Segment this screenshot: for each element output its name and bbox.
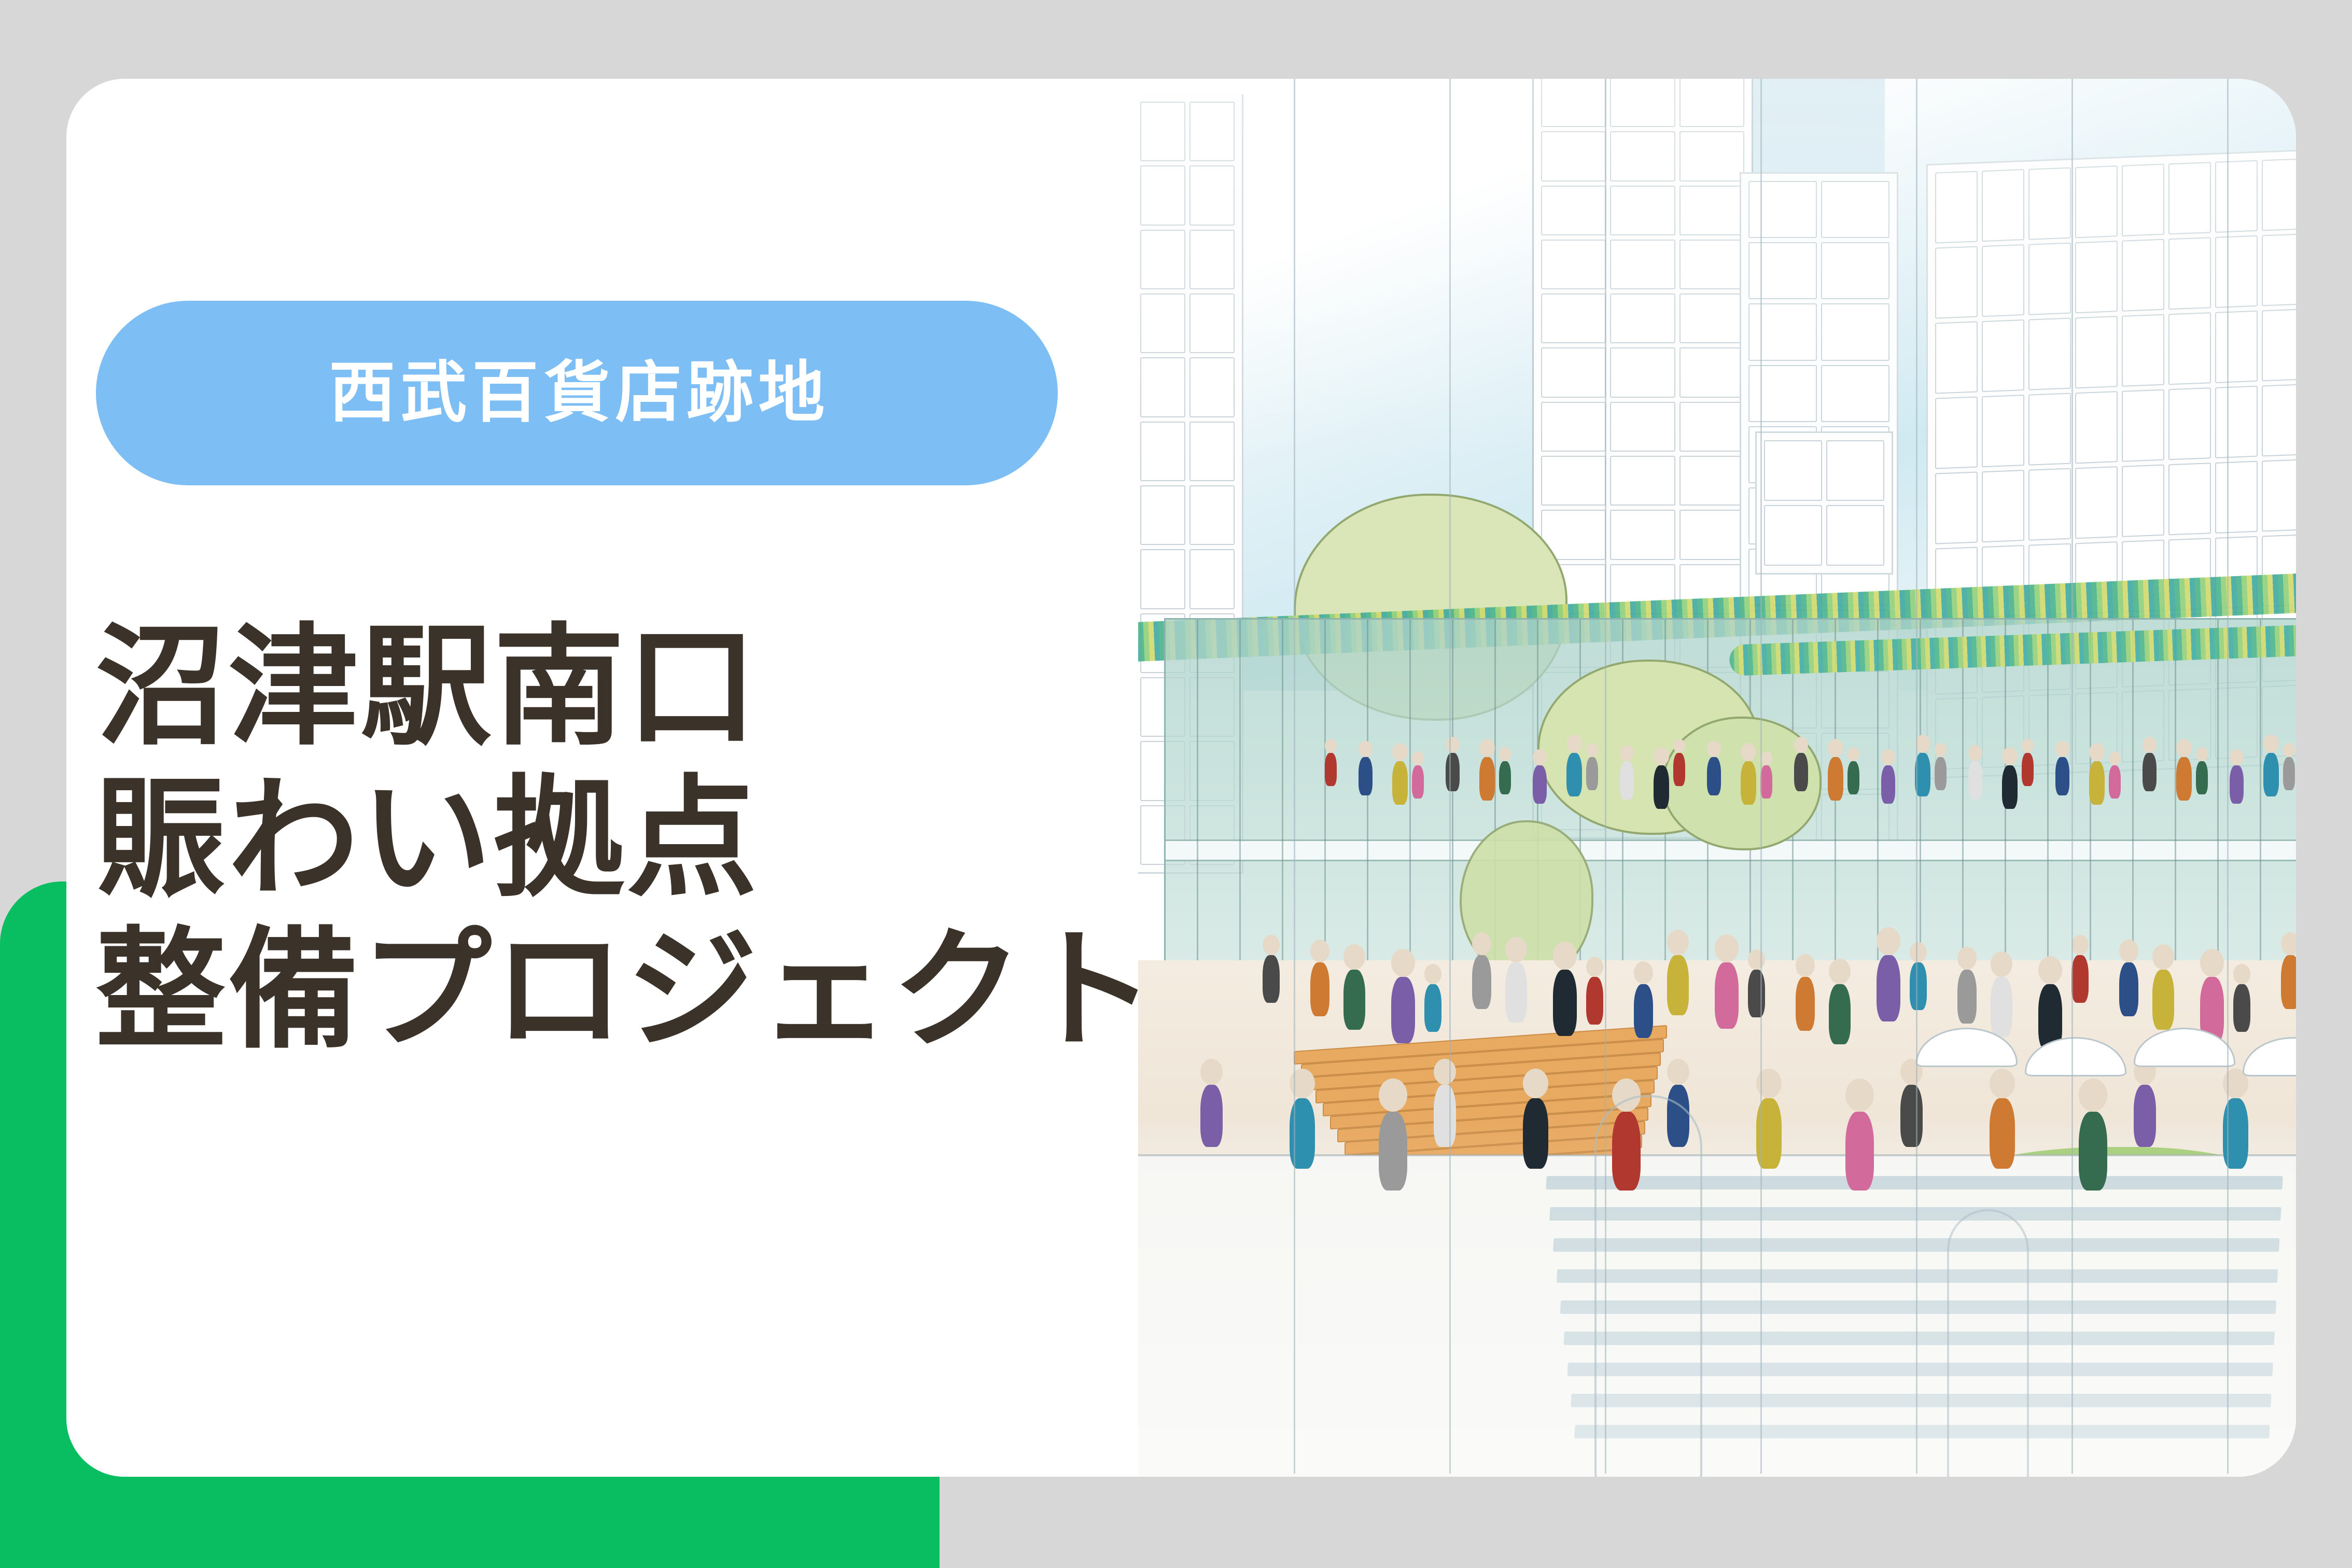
- building-window: [1541, 456, 1606, 506]
- person-figure-plaza: [1379, 1112, 1407, 1191]
- person-head: [2233, 964, 2250, 984]
- building-window: [2168, 312, 2211, 385]
- person-figure-upper: [2176, 757, 2192, 801]
- sketch-guide-line: [1449, 79, 1451, 1474]
- sketch-guide-line: [2227, 79, 2229, 1474]
- person-figure-upper: [1968, 761, 1982, 800]
- person-head: [1829, 959, 1851, 984]
- building-window: [1935, 171, 1978, 244]
- person-figure-upper: [2263, 753, 2279, 796]
- building-window: [1982, 319, 2024, 392]
- person-head: [1343, 944, 1365, 970]
- person-figure-upper: [2002, 765, 2018, 809]
- content-card: 西武百貨店跡地 沼津駅南口 賑わい拠点 整備プロジェクト: [66, 79, 2296, 1477]
- sketch-guide-line: [1760, 79, 1762, 1474]
- person-head: [1673, 739, 1685, 753]
- building-window: [1764, 440, 1822, 501]
- building-window: [1679, 510, 1744, 559]
- sketch-guide-line: [1916, 79, 1917, 1474]
- person-figure-upper: [2283, 757, 2295, 790]
- person-figure-lower: [2071, 955, 2089, 1003]
- person-figure-upper: [1479, 757, 1495, 801]
- pavilion-mullion: [1197, 620, 1198, 1014]
- person-head: [2230, 749, 2244, 765]
- person-head: [1263, 935, 1280, 955]
- person-figure-upper: [1499, 761, 1511, 794]
- building-window: [1679, 186, 1744, 235]
- person-head: [2002, 747, 2018, 765]
- person-head: [1991, 951, 2012, 977]
- person-head: [2089, 743, 2105, 761]
- building-window: [1821, 181, 1889, 238]
- person-figure-upper: [2022, 753, 2034, 786]
- person-figure-upper: [1760, 765, 1772, 799]
- building-window: [1610, 131, 1675, 181]
- person-head: [1424, 964, 1441, 984]
- person-head: [2109, 751, 2121, 765]
- person-figure-upper: [1673, 753, 1685, 786]
- person-figure-lower: [1310, 962, 1329, 1016]
- person-head: [1715, 934, 1739, 962]
- person-figure-upper: [2109, 765, 2121, 799]
- building-window: [1610, 510, 1675, 559]
- building-window: [1982, 169, 2024, 242]
- person-head: [1392, 743, 1408, 761]
- building-window: [1140, 549, 1185, 609]
- building-window: [1679, 402, 1744, 452]
- person-figure-lower: [1391, 977, 1415, 1043]
- person-figure-lower: [1829, 984, 1851, 1044]
- building-window: [2075, 165, 2118, 238]
- person-head: [1359, 741, 1373, 757]
- building-window: [2215, 235, 2258, 308]
- building-window: [2122, 314, 2164, 387]
- person-head: [1910, 942, 1927, 962]
- person-head: [2152, 944, 2174, 970]
- building-window: [2215, 160, 2258, 233]
- plaza-illustration: [1138, 79, 2296, 1477]
- pavilion-mullion: [2090, 620, 2091, 1014]
- person-figure-upper: [2230, 765, 2244, 804]
- person-figure-upper: [1654, 765, 1669, 809]
- person-figure-lower: [2152, 970, 2174, 1030]
- person-figure-lower: [1263, 955, 1280, 1003]
- building-window: [1541, 186, 1606, 235]
- person-figure-upper: [1935, 757, 1947, 790]
- building-window: [2028, 243, 2071, 315]
- pavilion-mullion: [1835, 620, 1836, 1014]
- building-window: [1679, 79, 1744, 127]
- building-window: [2168, 237, 2211, 310]
- person-figure-upper: [1359, 757, 1373, 795]
- person-figure-upper: [1847, 761, 1859, 794]
- person-head: [2143, 737, 2157, 753]
- building-window: [2122, 164, 2164, 236]
- person-head: [2196, 747, 2208, 761]
- person-head: [1748, 949, 1765, 970]
- building-window: [1610, 240, 1675, 289]
- building-window: [1610, 402, 1675, 452]
- person-figure-lower: [2233, 984, 2250, 1032]
- building-window: [1610, 456, 1675, 506]
- building-window: [1610, 293, 1675, 343]
- person-head: [1968, 745, 1982, 761]
- person-figure-upper: [1794, 753, 1808, 791]
- person-head: [1412, 751, 1424, 765]
- building-window: [1189, 165, 1235, 225]
- building-window: [1541, 79, 1606, 127]
- building-window: [1679, 347, 1744, 397]
- person-head: [1325, 739, 1337, 753]
- building-window: [2075, 241, 2118, 313]
- building-window: [1140, 422, 1185, 481]
- building-window: [1140, 102, 1185, 161]
- building-window: [1982, 395, 2024, 467]
- person-figure-lower: [1343, 970, 1365, 1030]
- building-window: [1189, 293, 1235, 353]
- building-window: [2122, 389, 2164, 462]
- building-window: [1541, 293, 1606, 343]
- person-figure-upper: [1533, 765, 1547, 804]
- building-window: [2215, 311, 2258, 383]
- sketch-guide-line: [1294, 79, 1295, 1474]
- person-figure-lower: [1424, 984, 1441, 1032]
- person-figure-lower: [1748, 970, 1765, 1017]
- building-window: [2215, 461, 2258, 534]
- building-window: [2075, 391, 2118, 464]
- pavilion-mullion: [1239, 620, 1241, 1014]
- building-window: [1821, 365, 1889, 422]
- person-figure-lower: [1553, 970, 1577, 1036]
- building-window: [1610, 347, 1675, 397]
- person-head: [1479, 739, 1495, 757]
- building-window: [1748, 242, 1817, 299]
- person-figure-upper: [2055, 757, 2069, 795]
- building-window: [1679, 456, 1744, 506]
- person-figure-upper: [1741, 761, 1756, 805]
- person-figure-upper: [1446, 753, 1460, 791]
- person-head: [2283, 743, 2295, 757]
- person-figure-lower: [1472, 955, 1491, 1009]
- person-figure-upper: [1325, 753, 1337, 786]
- person-head: [1586, 957, 1603, 977]
- person-head: [2055, 741, 2069, 757]
- pavilion-mullion: [2175, 620, 2176, 1014]
- person-figure-upper: [1707, 757, 1721, 795]
- person-head: [1379, 1079, 1407, 1112]
- person-figure-upper: [2143, 753, 2157, 791]
- building-window: [1821, 242, 1889, 299]
- building-window: [1140, 230, 1185, 289]
- person-head: [1667, 1059, 1689, 1085]
- person-head: [1620, 745, 1634, 761]
- building-box: [1755, 431, 1893, 575]
- building-window: [1140, 293, 1185, 353]
- building-window: [2028, 468, 2071, 541]
- person-figure-lower: [1796, 977, 1815, 1031]
- person-head: [1990, 1069, 2015, 1098]
- person-head: [1760, 751, 1772, 765]
- person-figure-lower: [2119, 962, 2138, 1016]
- building-window: [2028, 167, 2071, 240]
- building-window: [1610, 79, 1675, 127]
- building-window: [1826, 505, 1884, 566]
- pavilion-mullion: [1367, 620, 1368, 1014]
- person-head: [2038, 956, 2062, 984]
- person-head: [1391, 949, 1415, 977]
- person-head: [1935, 743, 1947, 757]
- person-figure-lower: [1957, 970, 1977, 1024]
- person-figure-upper: [1586, 757, 1598, 790]
- poster-stage: 西武百貨店跡地 沼津駅南口 賑わい拠点 整備プロジェクト: [0, 0, 2352, 1568]
- person-head: [2176, 739, 2192, 757]
- person-figure-lower: [1991, 977, 2012, 1037]
- person-figure-plaza: [1900, 1085, 1923, 1147]
- building-window: [2028, 318, 2071, 390]
- person-head: [1499, 747, 1511, 761]
- building-window: [1541, 347, 1606, 397]
- building-window: [1189, 549, 1235, 609]
- person-head: [2022, 739, 2034, 753]
- person-figure-lower: [1715, 962, 1739, 1029]
- person-head: [1446, 737, 1460, 753]
- person-head: [1505, 937, 1527, 962]
- building-window: [2262, 309, 2296, 381]
- category-badge[interactable]: 西武百貨店跡地: [96, 301, 1058, 485]
- sketch-guide-line: [2071, 79, 2073, 1474]
- person-figure-upper: [2089, 761, 2105, 805]
- pavilion-mullion: [2260, 620, 2261, 1014]
- page-title-line-1: 沼津駅南口: [95, 612, 1143, 763]
- person-figure-lower: [1667, 955, 1689, 1015]
- person-figure-upper: [1566, 753, 1582, 796]
- building-window: [2028, 393, 2071, 466]
- building-window: [2122, 239, 2164, 312]
- person-figure-plaza: [2134, 1085, 2156, 1147]
- building-window: [1610, 186, 1675, 235]
- person-figure-lower: [1910, 962, 1927, 1010]
- building-window: [2262, 384, 2296, 456]
- building-window: [1935, 472, 1978, 544]
- person-figure-lower: [1586, 977, 1603, 1025]
- pavilion-mullion: [2047, 620, 2049, 1014]
- person-figure-lower: [2281, 955, 2296, 1009]
- building-window: [1982, 470, 2024, 542]
- person-head: [1654, 747, 1669, 765]
- building-window: [1189, 422, 1235, 481]
- building-window: [1748, 303, 1817, 360]
- building-window: [1189, 230, 1235, 289]
- person-head: [1794, 737, 1808, 753]
- person-figure-lower: [1634, 984, 1653, 1038]
- person-figure-upper: [1412, 765, 1424, 799]
- building-window: [1679, 293, 1744, 343]
- person-head: [1586, 743, 1598, 757]
- foreground-person-outline-2: [1947, 1209, 2029, 1477]
- building-window: [1541, 131, 1606, 181]
- building-window: [2168, 387, 2211, 460]
- building-window: [2262, 459, 2296, 531]
- person-figure-upper: [1881, 765, 1895, 804]
- person-figure-plaza: [1434, 1085, 1456, 1147]
- page-title-line-2: 賑わい拠点: [95, 763, 1143, 915]
- foreground-person-outline: [1594, 1095, 1702, 1477]
- building-window: [1679, 131, 1744, 181]
- person-figure-lower: [1877, 955, 1900, 1021]
- person-figure-plaza: [1200, 1085, 1223, 1147]
- person-head: [1523, 1069, 1548, 1098]
- building-window: [1821, 303, 1889, 360]
- building-window: [2168, 463, 2211, 535]
- pavilion-mullion: [1877, 620, 1879, 1014]
- building-window: [1935, 246, 1978, 319]
- person-figure-plaza: [1845, 1112, 1874, 1191]
- person-head: [2071, 935, 2089, 955]
- person-figure-upper: [1392, 761, 1408, 805]
- building-window: [1748, 181, 1817, 238]
- pavilion-mullion: [1282, 620, 1283, 1014]
- person-head: [1707, 741, 1721, 757]
- text-column: 西武百貨店跡地 沼津駅南口 賑わい拠点 整備プロジェクト: [66, 79, 1138, 1477]
- building-window: [2262, 233, 2296, 306]
- building-window: [1541, 402, 1606, 452]
- building-window: [1748, 365, 1817, 422]
- person-head: [2079, 1079, 2107, 1112]
- person-figure-lower: [1505, 962, 1527, 1023]
- building-window: [2262, 158, 2296, 231]
- person-figure-upper: [2196, 761, 2208, 794]
- person-head: [1881, 749, 1895, 765]
- building-window: [1764, 505, 1822, 566]
- person-head: [1741, 743, 1756, 761]
- person-figure-upper: [1828, 757, 1843, 801]
- person-head: [1845, 1079, 1874, 1112]
- building-window: [1189, 485, 1235, 545]
- building-window: [1140, 357, 1185, 417]
- person-figure-plaza: [1990, 1098, 2015, 1169]
- person-head: [1828, 739, 1843, 757]
- person-head: [2200, 949, 2224, 977]
- person-head: [1533, 749, 1547, 765]
- person-head: [2281, 932, 2296, 955]
- building-window: [2075, 316, 2118, 388]
- person-figure-plaza: [2079, 1112, 2107, 1191]
- person-head: [1566, 735, 1582, 753]
- building-window: [2075, 466, 2118, 539]
- building-window: [1935, 397, 1978, 469]
- person-figure-plaza: [1523, 1098, 1548, 1169]
- person-head: [1667, 930, 1689, 955]
- building-window: [2168, 162, 2211, 234]
- building-window: [2122, 465, 2164, 537]
- building-window: [1826, 440, 1884, 501]
- person-head: [2263, 735, 2279, 753]
- building-window: [1189, 102, 1235, 161]
- person-head: [1553, 942, 1577, 970]
- person-head: [1200, 1059, 1223, 1085]
- building-window: [1679, 240, 1744, 289]
- building-window: [1982, 244, 2024, 317]
- person-head: [1877, 927, 1900, 955]
- pavilion-mullion: [1452, 620, 1453, 1014]
- person-figure-upper: [1620, 761, 1634, 800]
- building-window: [1935, 321, 1978, 394]
- building-window: [2215, 386, 2258, 458]
- page-title: 沼津駅南口 賑わい拠点 整備プロジェクト: [95, 612, 1143, 1067]
- category-badge-label: 西武百貨店跡地: [324, 360, 830, 426]
- person-head: [1847, 747, 1859, 761]
- building-window: [1140, 485, 1185, 545]
- building-window: [1541, 240, 1606, 289]
- page-title-line-3: 整備プロジェクト: [95, 915, 1143, 1067]
- building-window: [1140, 165, 1185, 225]
- person-head: [1434, 1059, 1456, 1085]
- building-window: [1189, 357, 1235, 417]
